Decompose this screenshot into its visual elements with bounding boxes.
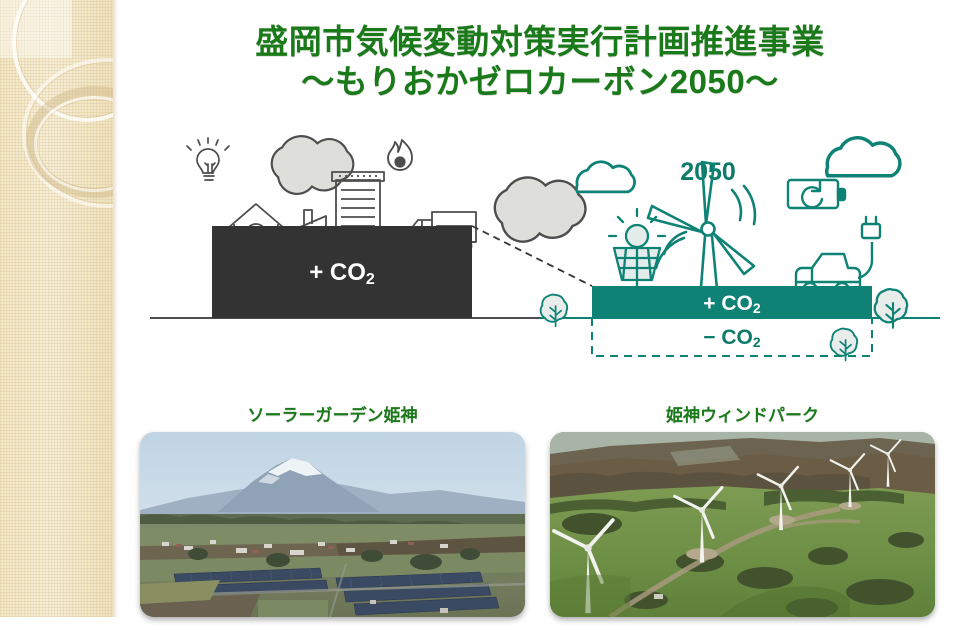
slide-canvas: 盛岡市気候変動対策実行計画推進事業 ～もりおかゼロカーボン2050～ bbox=[0, 0, 960, 640]
solar-garden-himekami-photo bbox=[140, 432, 525, 617]
co2-emission-bar-label: + CO2 bbox=[703, 292, 761, 316]
co2-emission-block-label: + CO2 bbox=[309, 259, 375, 288]
himekami-wind-park-photo bbox=[550, 432, 935, 617]
rechargeable-battery-icon bbox=[788, 180, 845, 208]
tree-icon bbox=[875, 289, 907, 328]
title-line-subtitle: ～もりおかゼロカーボン2050～ bbox=[130, 62, 950, 102]
tree-icon bbox=[541, 295, 568, 327]
title-line-primary: 盛岡市気候変動対策実行計画推進事業 bbox=[130, 22, 950, 62]
co2-absorption-label: − CO2 bbox=[703, 326, 761, 350]
smoke-cloud-icon bbox=[495, 177, 586, 241]
decorative-sidebar bbox=[0, 0, 113, 617]
smoke-cloud-icon bbox=[272, 136, 354, 194]
photo-caption-solar: ソーラーガーデン姫神 bbox=[140, 401, 525, 426]
cloud-icon bbox=[577, 162, 635, 192]
photo-caption-wind: 姫神ウィンドパーク bbox=[550, 401, 935, 426]
carbon-neutral-diagram: + CO2 2050 bbox=[140, 128, 950, 390]
cloud-icon bbox=[827, 138, 900, 176]
sidebar-edge-shadow bbox=[113, 0, 118, 617]
lightbulb-icon bbox=[187, 138, 229, 180]
page-title: 盛岡市気候変動対策実行計画推進事業 ～もりおかゼロカーボン2050～ bbox=[130, 22, 950, 103]
electric-car-charging-icon bbox=[796, 217, 880, 297]
flame-icon bbox=[388, 140, 412, 170]
solar-panel-icon bbox=[609, 209, 665, 296]
